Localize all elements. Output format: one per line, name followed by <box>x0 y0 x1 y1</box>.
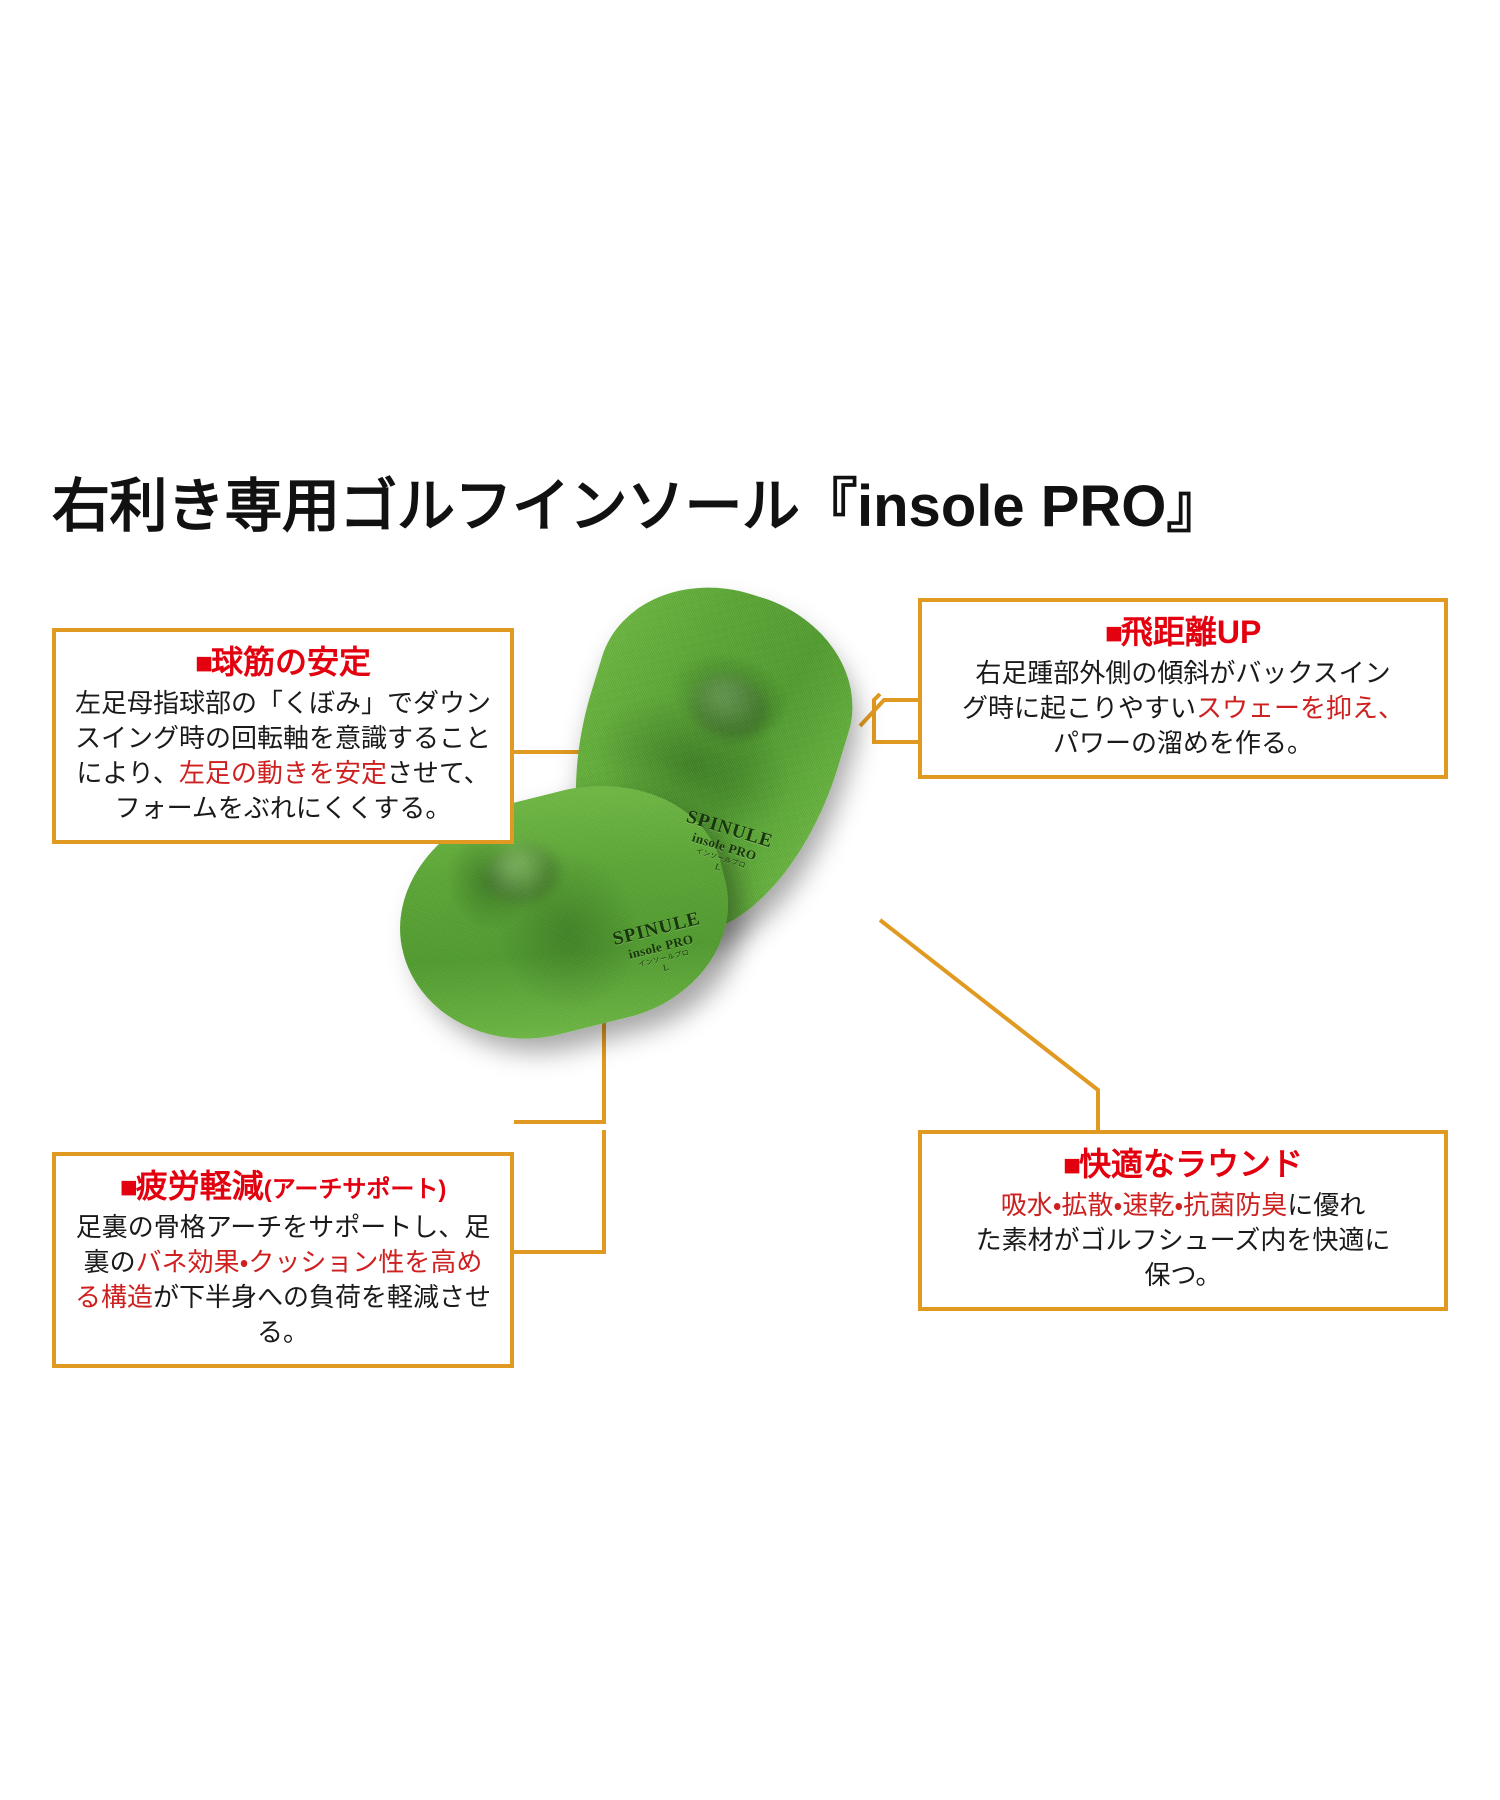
callout-body-line: 吸水・拡散・速乾・抗菌防臭に優れ <box>936 1188 1430 1223</box>
highlighted-text: る構造 <box>75 1282 153 1312</box>
red-square-icon: ■ <box>1105 617 1121 650</box>
body-text: により、 <box>76 758 178 788</box>
body-text: フォームをぶれにくくする。 <box>115 793 452 823</box>
callout-body-line: る。 <box>70 1315 496 1350</box>
callout-heading: ■疲労軽減(アーチサポート) <box>70 1168 496 1206</box>
callout-body-line: 左足母指球部の「くぼみ」でダウン <box>70 686 496 721</box>
highlighted-text: 吸水・拡散・速乾・抗菌防臭 <box>1001 1190 1288 1220</box>
body-text: た素材がゴルフシューズ内を快適に <box>976 1225 1391 1255</box>
highlighted-text: スウェーを抑え、 <box>1196 693 1404 723</box>
callout-body-line: る構造が下半身への負荷を軽減させ <box>70 1280 496 1315</box>
body-text: 足裏の骨格アーチをサポートし、足 <box>76 1212 490 1242</box>
callout-body-line: 保つ。 <box>936 1258 1430 1293</box>
body-text: させて、 <box>387 758 490 788</box>
callout-fatigue-reduction: ■疲労軽減(アーチサポート) 足裏の骨格アーチをサポートし、足裏のバネ効果・クッ… <box>52 1152 514 1368</box>
page-title: 右利き専用ゴルフインソール『insole PRO』 <box>52 477 1224 538</box>
page-title-jp-end: 』 <box>1166 474 1224 539</box>
callout-heading-paren: (アーチサポート) <box>264 1176 447 1203</box>
body-text: 右足踵部外側の傾斜がバックスイン <box>975 658 1390 688</box>
arch-bump-right <box>684 666 777 748</box>
red-square-icon: ■ <box>120 1171 136 1204</box>
body-text: に優れ <box>1287 1190 1365 1220</box>
leader-line-fatigue <box>514 1130 604 1252</box>
callout-heading: ■飛距離UP <box>936 614 1430 652</box>
callout-body-line: た素材がゴルフシューズ内を快適に <box>936 1223 1430 1258</box>
callout-body-line: により、左足の動きを安定させて、 <box>70 756 496 791</box>
body-text: 左足母指球部の「くぼみ」でダウン <box>75 688 491 718</box>
callout-body-line: 足裏の骨格アーチをサポートし、足 <box>70 1210 496 1245</box>
callout-heading-text: 球筋の安定 <box>211 644 371 680</box>
callout-distance-up: ■飛距離UP 右足踵部外側の傾斜がバックスイング時に起こりやすいスウェーを抑え、… <box>918 598 1448 779</box>
callout-body-line: 裏のバネ効果・クッション性を高め <box>70 1245 496 1280</box>
callout-heading: ■球筋の安定 <box>70 644 496 682</box>
body-text: パワーの溜めを作る。 <box>1053 728 1313 758</box>
body-text: る。 <box>257 1317 309 1347</box>
callout-body-line: グ時に起こりやすいスウェーを抑え、 <box>936 691 1430 726</box>
callout-heading-text: 疲労軽減 <box>136 1168 264 1204</box>
body-text: グ時に起こりやすい <box>962 693 1196 723</box>
callout-body: 左足母指球部の「くぼみ」でダウンスイング時の回転軸を意識することにより、左足の動… <box>70 686 496 826</box>
highlighted-text: 左足の動きを安定 <box>179 758 387 788</box>
callout-body-line: 右足踵部外側の傾斜がバックスイン <box>936 656 1430 691</box>
callout-comfortable-round: ■快適なラウンド 吸水・拡散・速乾・抗菌防臭に優れた素材がゴルフシューズ内を快適… <box>918 1130 1448 1311</box>
body-text: が下半身への負荷を軽減させ <box>153 1282 491 1312</box>
callout-body-line: スイング時の回転軸を意識すること <box>70 721 496 756</box>
page-title-jp-start: 右利き専用ゴルフインソール『 <box>52 474 857 539</box>
page-title-product-name: insole PRO <box>857 474 1166 539</box>
highlighted-text: バネ効果・クッション性を高め <box>136 1247 483 1277</box>
callout-heading-text: 快適なラウンド <box>1079 1146 1303 1182</box>
body-text: 裏の <box>84 1247 136 1277</box>
arch-bump-left <box>481 837 565 911</box>
red-square-icon: ■ <box>1063 1149 1079 1182</box>
callout-heading-text: 飛距離UP <box>1121 614 1261 650</box>
body-text: 保つ。 <box>1145 1260 1222 1290</box>
body-text: スイング時の回転軸を意識すること <box>75 723 491 753</box>
callout-body-line: フォームをぶれにくくする。 <box>70 791 496 826</box>
infographic-page: 右利き専用ゴルフインソール『insole PRO』 SPINULE insole… <box>0 0 1500 1800</box>
callout-ball-flight-stability: ■球筋の安定 左足母指球部の「くぼみ」でダウンスイング時の回転軸を意識することに… <box>52 628 514 844</box>
callout-body: 吸水・拡散・速乾・抗菌防臭に優れた素材がゴルフシューズ内を快適に保つ。 <box>936 1188 1430 1293</box>
callout-body: 足裏の骨格アーチをサポートし、足裏のバネ効果・クッション性を高める構造が下半身へ… <box>70 1210 496 1350</box>
callout-heading: ■快適なラウンド <box>936 1146 1430 1184</box>
red-square-icon: ■ <box>195 647 211 680</box>
callout-body: 右足踵部外側の傾斜がバックスイング時に起こりやすいスウェーを抑え、パワーの溜めを… <box>936 656 1430 761</box>
callout-body-line: パワーの溜めを作る。 <box>936 726 1430 761</box>
